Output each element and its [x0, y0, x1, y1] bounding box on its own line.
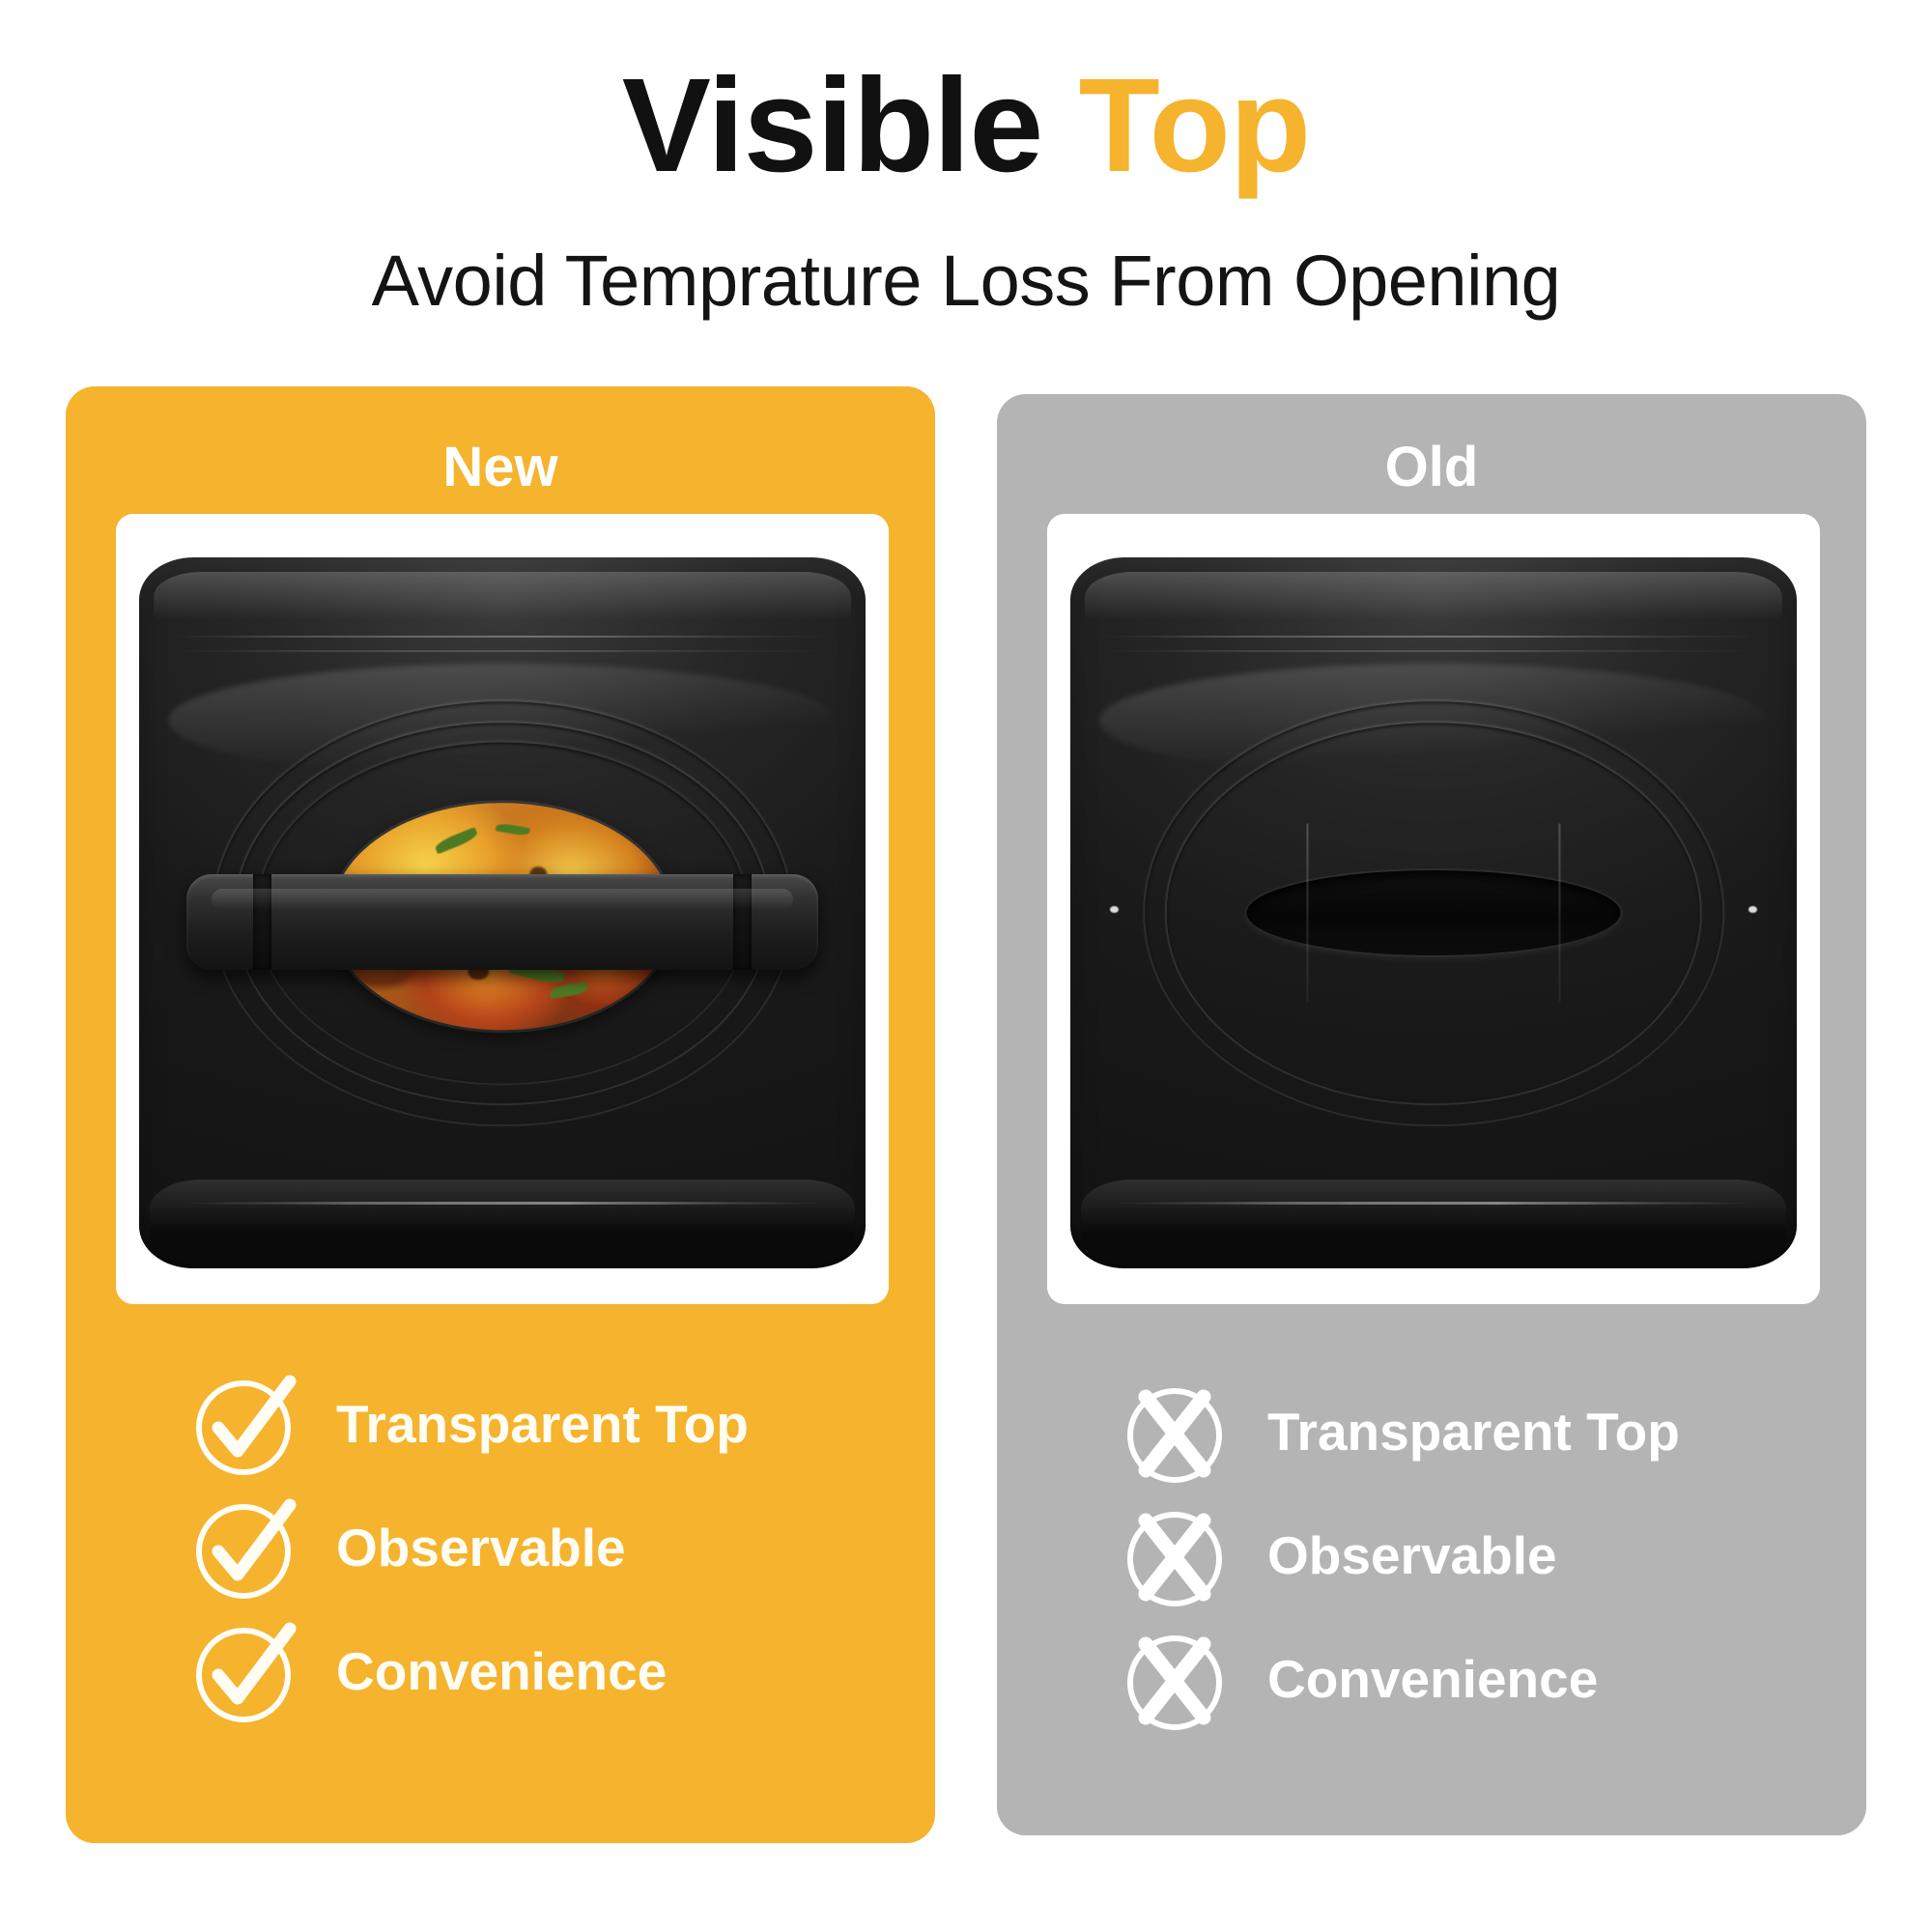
feature-label: Transparent Top [1267, 1401, 1680, 1463]
card-label-new: New [66, 435, 935, 499]
feature-label: Convenience [336, 1640, 667, 1702]
feature-label: Observable [1267, 1524, 1557, 1586]
comparison-card-old: Old [997, 394, 1866, 1835]
product-image-old [1047, 514, 1820, 1304]
feature-item: Observable [997, 1493, 1866, 1617]
check-circle-icon [189, 1493, 298, 1602]
check-circle-icon [189, 1617, 298, 1725]
page-subtitle: Avoid Temprature Loss From Opening [0, 240, 1932, 322]
lid-handle-slot-old [1244, 868, 1622, 957]
comparison-card-new: New [66, 386, 935, 1843]
feature-item: Observable [66, 1486, 935, 1609]
lid-body-new [139, 557, 866, 1268]
page-title-accent: Top [1079, 51, 1311, 200]
lid-handle-new [186, 874, 818, 970]
page-title-primary: Visible [622, 51, 1042, 200]
check-circle-icon [189, 1370, 298, 1478]
product-image-new [116, 514, 889, 1304]
feature-list-old: Transparent Top Observable Convenience [997, 1370, 1866, 1741]
x-circle-icon [1121, 1625, 1229, 1733]
feature-item: Transparent Top [66, 1362, 935, 1486]
card-label-old: Old [997, 435, 1866, 499]
feature-list-new: Transparent Top Observable Convenience [66, 1362, 935, 1733]
lid-body-old [1070, 557, 1797, 1268]
x-circle-icon [1121, 1501, 1229, 1609]
page-title: Visible Top [0, 56, 1932, 196]
feature-label: Convenience [1267, 1648, 1598, 1710]
feature-item: Convenience [66, 1609, 935, 1733]
x-circle-icon [1121, 1378, 1229, 1486]
feature-item: Transparent Top [997, 1370, 1866, 1493]
header: Visible Top Avoid Temprature Loss From O… [0, 0, 1932, 377]
feature-item: Convenience [997, 1617, 1866, 1741]
feature-label: Transparent Top [336, 1393, 749, 1455]
feature-label: Observable [336, 1517, 626, 1578]
